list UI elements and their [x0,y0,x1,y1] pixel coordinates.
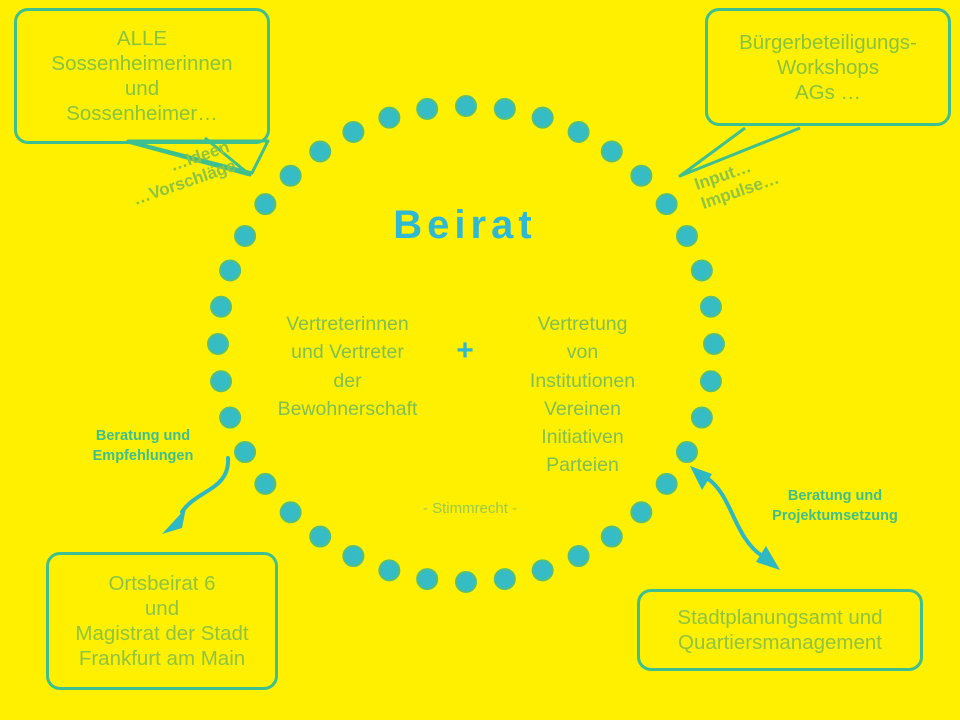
center-left-line: Vertreterinnen [260,310,435,338]
ring-dot [692,408,712,428]
annotation-input-impulse: Input… Impulse… [692,150,782,213]
ring-dot [692,260,712,280]
ring-dot [631,502,651,522]
ring-dot [456,572,476,592]
ring-dot [533,108,553,128]
center-right-line: von [495,338,670,366]
bubble-alle-sossenheimer: ALLE Sossenheimerinnen und Sossenheimer… [14,8,270,144]
bubble-ortsbeirat-magistrat: Ortsbeirat 6 und Magistrat der Stadt Fra… [46,552,278,690]
ring-dot [343,546,363,566]
center-columns: Vertreterinnen und Vertreter der Bewohne… [245,310,685,480]
bubble-workshops-line: Workshops [777,55,879,80]
ring-dot [701,371,721,391]
annotation-beratung-empfehlungen-line: Beratung und [68,427,218,447]
center-left-line: und Vertreter [260,338,435,366]
page-title: Beirat [265,203,665,248]
stimmrecht-note: - Stimmrecht - [340,500,600,517]
ring-dot [417,99,437,119]
annotation-beratung-projekt-line: Beratung und [740,487,930,507]
center-right-line: Institutionen [495,367,670,395]
bubble-workshops-line: AGs … [795,80,861,105]
center-column-right: Vertretung von Institutionen Vereinen In… [495,310,670,480]
ring-dot [569,546,589,566]
ring-dot [281,502,301,522]
ring-dot [310,527,330,547]
bubble-stadtplanungsamt: Stadtplanungsamt und Quartiersmanagement [637,589,923,671]
ring-dot [704,334,724,354]
plus-symbol: + [435,310,495,368]
ring-dot [417,569,437,589]
bubble-stadtplanung-line: Quartiersmanagement [678,630,882,655]
center-left-line: Bewohnerschaft [260,395,435,423]
ring-dot [677,226,697,246]
ring-dot [208,334,228,354]
arrowhead-down-right [756,546,780,570]
ring-dot [281,166,301,186]
bubble-buergerbeteiligung: Bürgerbeteiligungs- Workshops AGs … [705,8,951,126]
center-column-left: Vertreterinnen und Vertreter der Bewohne… [260,310,435,423]
ring-dot [379,560,399,580]
bubble-stadtplanung-line: Stadtplanungsamt und [677,605,882,630]
bubble-alle-line: Sossenheimer… [66,101,218,126]
bubble-alle-line: und [125,76,159,101]
arrowhead-up-left [690,466,712,490]
bubble-ortsbeirat-line: und [145,596,179,621]
center-right-line: Initiativen [495,423,670,451]
annotation-beratung-projektumsetzung: Beratung und Projektumsetzung [740,487,930,526]
ring-dot [602,141,622,161]
ring-dot [310,141,330,161]
bubble-alle-line: ALLE [117,26,167,51]
diagram-canvas: Beirat Vertreterinnen und Vertreter der … [0,0,960,720]
ring-dot [495,569,515,589]
center-right-line: Parteien [495,451,670,479]
ring-dot [220,408,240,428]
center-right-line: Vereinen [495,395,670,423]
ring-dot [602,527,622,547]
ring-dot [235,226,255,246]
ring-dot [379,108,399,128]
ring-dot [631,166,651,186]
annotation-beratung-projekt-line: Projektumsetzung [740,507,930,527]
ring-dot [211,297,231,317]
center-left-line: der [260,367,435,395]
ring-dot [343,122,363,142]
annotation-beratung-empfehlungen: Beratung und Empfehlungen [68,427,218,466]
ring-dot [211,371,231,391]
center-right-line: Vertretung [495,310,670,338]
bubble-workshops-line: Bürgerbeteiligungs- [739,30,917,55]
ring-dot [533,560,553,580]
ring-dot [701,297,721,317]
ring-dot [220,260,240,280]
ring-dot [456,96,476,116]
arrowhead-down-left [162,508,186,534]
bubble-ortsbeirat-line: Ortsbeirat 6 [108,571,215,596]
bubble-ortsbeirat-line: Frankfurt am Main [79,646,245,671]
annotation-ideen-vorschlaege: …Ideen …Vorschläge [124,137,238,209]
ring-dot [495,99,515,119]
bubble-alle-line: Sossenheimerinnen [51,51,232,76]
annotation-beratung-empfehlungen-line: Empfehlungen [68,447,218,467]
bubble-ortsbeirat-line: Magistrat der Stadt [75,621,248,646]
ring-dot [569,122,589,142]
